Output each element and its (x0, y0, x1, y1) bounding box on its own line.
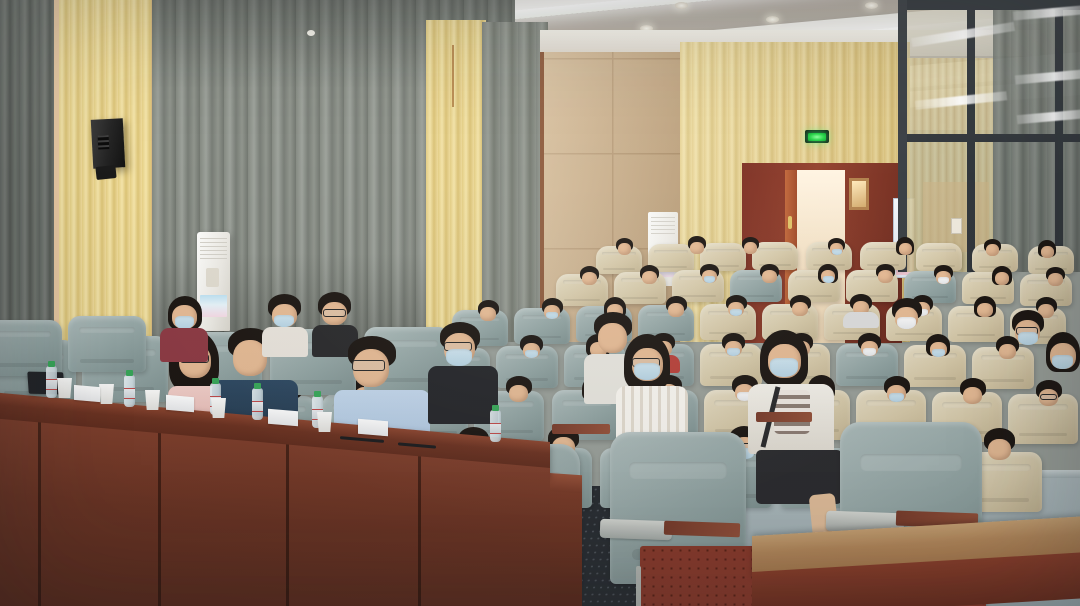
bottle-label (46, 379, 57, 390)
bottle-label (490, 423, 501, 434)
bottle-cap (492, 405, 499, 411)
paper-cup[interactable] (98, 384, 115, 404)
bottle-label (124, 388, 135, 399)
name-card (268, 409, 298, 427)
name-card (74, 385, 100, 402)
pen[interactable] (340, 436, 384, 443)
bottle-cap (314, 391, 321, 397)
bottle-cap (48, 361, 55, 367)
water-bottle[interactable] (490, 410, 501, 442)
name-card (358, 419, 388, 437)
paper-cup[interactable] (316, 412, 333, 432)
water-bottle[interactable] (46, 366, 57, 398)
name-card (166, 395, 194, 412)
foreground-desk-right (752, 536, 1080, 606)
paper-cup[interactable] (56, 378, 73, 398)
bottle-label (252, 401, 263, 412)
bottle-cap (126, 370, 133, 376)
bottle-cap (212, 378, 219, 384)
auditorium-photo: Auditorium Lecture Hall — Seated Masked … (0, 0, 1080, 606)
desk-items-group (0, 0, 1080, 606)
pen[interactable] (398, 442, 436, 448)
paper-cup[interactable] (144, 390, 161, 410)
water-bottle[interactable] (124, 375, 135, 407)
bottle-cap (254, 383, 261, 389)
water-bottle[interactable] (252, 388, 263, 420)
paper-cup[interactable] (210, 398, 227, 418)
